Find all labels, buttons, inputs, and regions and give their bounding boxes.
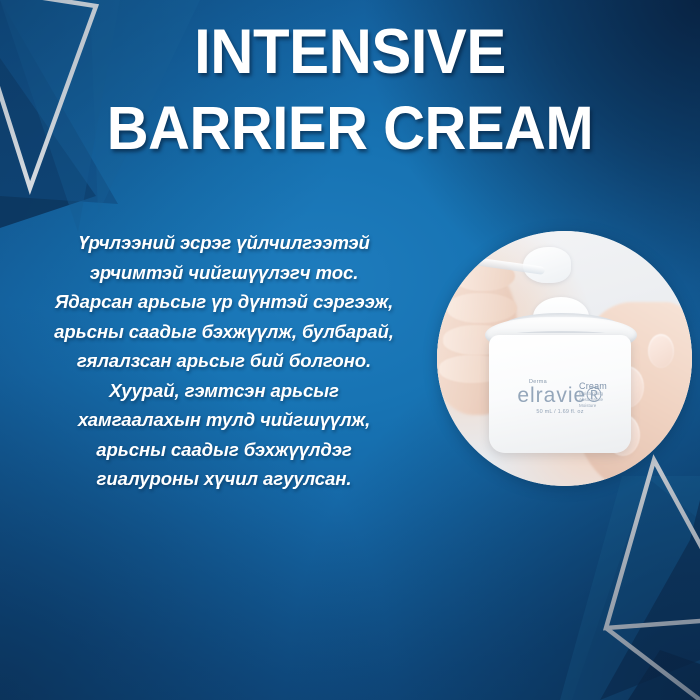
description-line: гялалзсан арьсыг бий болгоно. bbox=[14, 346, 434, 376]
title-line-2: BARRIER CREAM bbox=[18, 90, 683, 166]
product-photo: Derma elravie® 50 mL / 1.69 fl. oz Cream… bbox=[437, 231, 692, 486]
title-line-1: INTENSIVE bbox=[18, 14, 683, 90]
description-line: гиалуроны хүчил агуулсан. bbox=[14, 464, 434, 494]
finger bbox=[447, 293, 517, 323]
description-line: арьсны саадыг бэхжүүлж, булбарай, bbox=[14, 317, 434, 347]
product-photo-circle: Derma elravie® 50 mL / 1.69 fl. oz Cream… bbox=[437, 231, 692, 486]
description-line: хамгаалахын тулд чийгшүүлж, bbox=[14, 405, 434, 435]
label-size: 50 mL / 1.69 fl. oz bbox=[489, 409, 631, 415]
label-side-title: Cream bbox=[579, 381, 625, 391]
label-side-sub: Moisture bbox=[579, 403, 625, 409]
description-line: арьсны саадыг бэхжүүлдэг bbox=[14, 435, 434, 465]
jar-side-label: Cream Moisturizing Absorbance Moisture bbox=[579, 381, 625, 409]
poster-canvas: INTENSIVE BARRIER CREAM Үрчлээний эсрэг … bbox=[0, 0, 700, 700]
description-line: Үрчлээний эсрэг үйлчилгээтэй bbox=[14, 228, 434, 258]
page-title: INTENSIVE BARRIER CREAM bbox=[0, 14, 700, 166]
description-line: Хуурай, гэмтсэн арьсыг bbox=[14, 376, 434, 406]
description-line: Ядарсан арьсыг үр дүнтэй сэргээж, bbox=[14, 287, 434, 317]
fingernail bbox=[648, 334, 674, 368]
description-block: Үрчлээний эсрэг үйлчилгээтэй эрчимтэй чи… bbox=[14, 228, 434, 494]
cream-jar: Derma elravie® 50 mL / 1.69 fl. oz Cream… bbox=[489, 335, 631, 453]
description-line: эрчимтэй чийгшүүлэгч тос. bbox=[14, 258, 434, 288]
